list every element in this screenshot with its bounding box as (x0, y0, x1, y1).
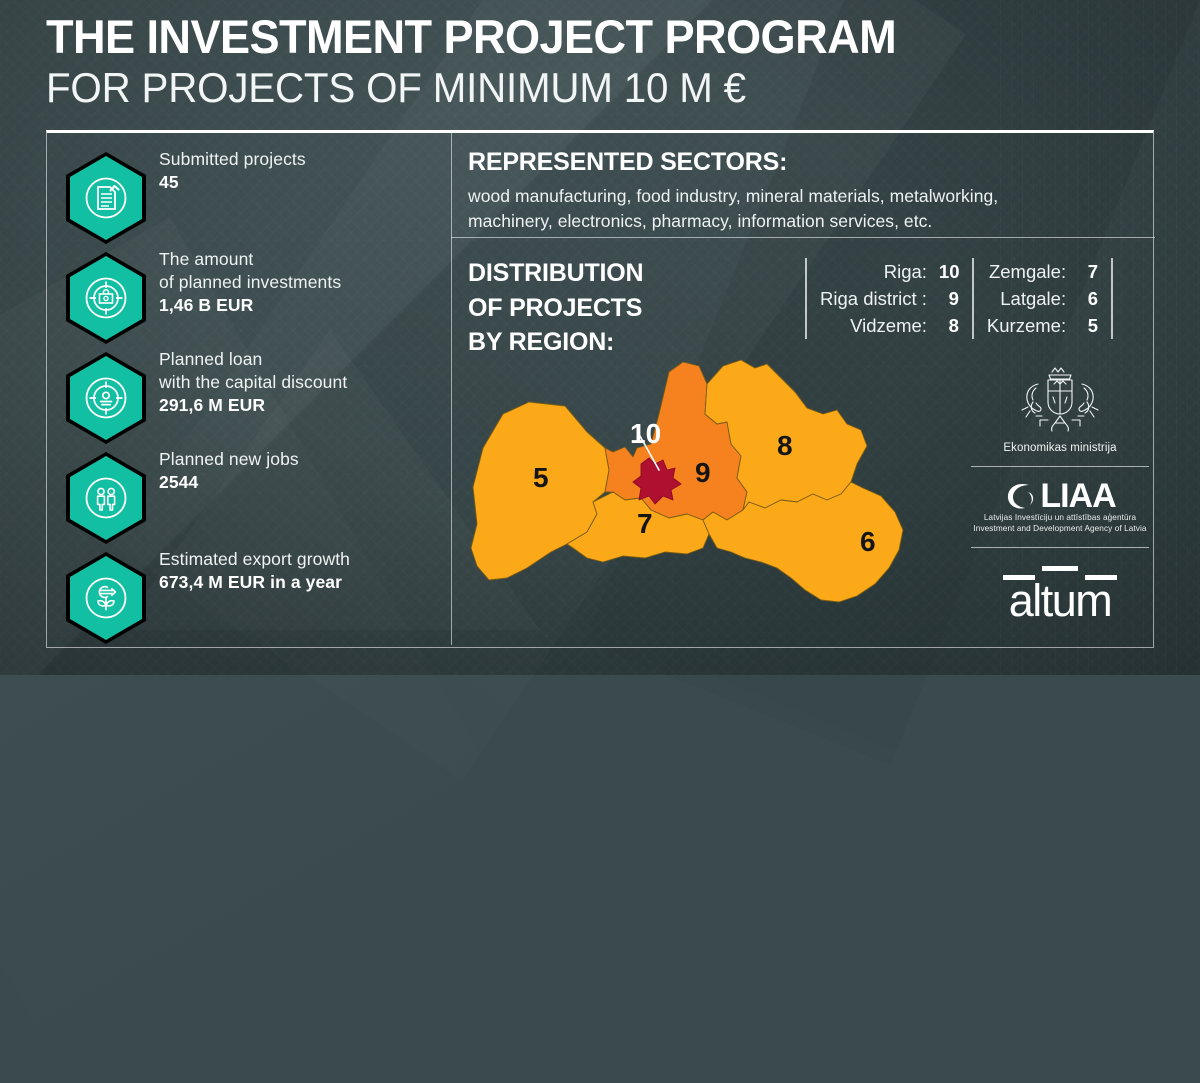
stat-text: The amount of planned investments 1,46 B… (159, 248, 449, 318)
region-row-latgale: Latgale: 6 (987, 285, 1098, 312)
liaa-text: LIAA (1040, 479, 1115, 513)
column-divider (451, 133, 452, 645)
region-value: 7 (1078, 258, 1098, 285)
stat-item-new-jobs: Planned new jobs 2544 (55, 448, 447, 548)
logo-divider (971, 547, 1149, 548)
stat-label-line2: with the capital discount (159, 371, 449, 394)
region-value: 8 (939, 312, 959, 339)
map-label-riga-district: 9 (695, 459, 711, 487)
stat-text: Estimated export growth 673,4 M EUR in a… (159, 548, 449, 595)
stat-label-line2: of planned investments (159, 271, 449, 294)
region-name: Kurzeme: (987, 312, 1066, 339)
stat-text: Submitted projects 45 (159, 148, 449, 195)
liaa-swoosh-icon (1004, 479, 1038, 513)
region-name: Latgale: (1000, 285, 1066, 312)
map-svg (455, 352, 955, 642)
latvia-coat-of-arms-icon (1008, 364, 1112, 434)
stat-value: 291,6 M EUR (159, 394, 449, 418)
hexagon-badge (60, 348, 152, 448)
map-label-latgale: 6 (860, 528, 876, 556)
stat-value: 2544 (159, 471, 449, 495)
sectors-line-2: machinery, electronics, pharmacy, inform… (468, 209, 1128, 234)
liaa-subtitle-lv: Latvijas Investīciju un attīstības aģent… (965, 513, 1155, 524)
stat-label-line1: The amount (159, 248, 449, 271)
page-subtitle: FOR PROJECTS OF MINIMUM 10 M € (46, 64, 1102, 111)
page-header: THE INVESTMENT PROJECT PROGRAM FOR PROJE… (46, 12, 1146, 111)
ministry-name: Ekonomikas ministrija (965, 442, 1155, 454)
stat-item-planned-investments: The amount of planned investments 1,46 B… (55, 248, 447, 348)
stat-text: Planned loan with the capital discount 2… (159, 348, 449, 418)
hexagon-badge (60, 548, 152, 648)
page-title: THE INVESTMENT PROJECT PROGRAM (46, 12, 1102, 62)
liaa-wordmark: LIAA (965, 479, 1155, 513)
stat-value: 1,46 B EUR (159, 294, 449, 318)
region-value: 5 (1078, 312, 1098, 339)
sectors-body: wood manufacturing, food industry, miner… (468, 184, 1128, 235)
liaa-subtitle-en: Investment and Development Agency of Lat… (965, 524, 1155, 535)
region-column-right: Zemgale: 7 Latgale: 6 Kurzeme: 5 (972, 258, 1113, 339)
region-value: 6 (1078, 285, 1098, 312)
region-row-riga-district: Riga district : 9 (820, 285, 959, 312)
region-statistics: Riga: 10 Riga district : 9 Vidzeme: 8 Ze… (805, 258, 1113, 339)
stat-value: 45 (159, 171, 449, 195)
stat-label: Planned new jobs (159, 448, 449, 471)
hexagon-badge (60, 448, 152, 548)
stat-item-export-growth: Estimated export growth 673,4 M EUR in a… (55, 548, 447, 648)
altum-logo: altum (965, 560, 1155, 623)
region-row-riga: Riga: 10 (820, 258, 959, 285)
distribution-title-line-2: OF PROJECTS (468, 291, 798, 326)
distribution-title: DISTRIBUTION OF PROJECTS BY REGION: (468, 256, 798, 360)
sectors-title: REPRESENTED SECTORS: (468, 148, 1128, 177)
logo-divider (971, 466, 1149, 467)
latvia-region-map: 5 10 9 8 7 6 (455, 352, 955, 642)
liaa-logo: LIAA Latvijas Investīciju un attīstības … (965, 479, 1155, 535)
altum-dash (1042, 566, 1078, 571)
region-value: 10 (939, 258, 959, 285)
stat-label-line1: Planned loan (159, 348, 449, 371)
region-row-zemgale: Zemgale: 7 (987, 258, 1098, 285)
stat-item-submitted-projects: Submitted projects 45 (55, 148, 447, 248)
statistics-list: Submitted projects 45 The amount of plan… (55, 148, 447, 648)
region-name: Zemgale: (989, 258, 1066, 285)
hexagon-badge (60, 248, 152, 348)
distribution-title-line-1: DISTRIBUTION (468, 256, 798, 291)
region-row-vidzeme: Vidzeme: 8 (820, 312, 959, 339)
stat-item-planned-loan: Planned loan with the capital discount 2… (55, 348, 447, 448)
region-column-left: Riga: 10 Riga district : 9 Vidzeme: 8 (805, 258, 972, 339)
stat-value: 673,4 M EUR in a year (159, 571, 449, 595)
hexagon-badge (60, 148, 152, 248)
region-name: Riga: (884, 258, 927, 285)
region-value: 9 (939, 285, 959, 312)
map-label-riga: 10 (630, 420, 661, 448)
stat-text: Planned new jobs 2544 (159, 448, 449, 495)
map-label-zemgale: 7 (637, 510, 653, 538)
region-row-kurzeme: Kurzeme: 5 (987, 312, 1098, 339)
map-label-vidzeme: 8 (777, 432, 793, 460)
map-label-kurzeme: 5 (533, 464, 549, 492)
altum-text: altum (965, 578, 1155, 623)
ministry-logo: Ekonomikas ministrija (965, 362, 1155, 454)
region-name: Riga district : (820, 285, 927, 312)
represented-sectors-section: REPRESENTED SECTORS: wood manufacturing,… (468, 148, 1128, 235)
logo-panel: Ekonomikas ministrija LIAA Latvijas Inve… (965, 362, 1155, 623)
stat-label: Estimated export growth (159, 548, 449, 571)
sectors-line-1: wood manufacturing, food industry, miner… (468, 184, 1128, 209)
sectors-divider (451, 237, 1155, 238)
region-name: Vidzeme: (850, 312, 927, 339)
stat-label: Submitted projects (159, 148, 449, 171)
